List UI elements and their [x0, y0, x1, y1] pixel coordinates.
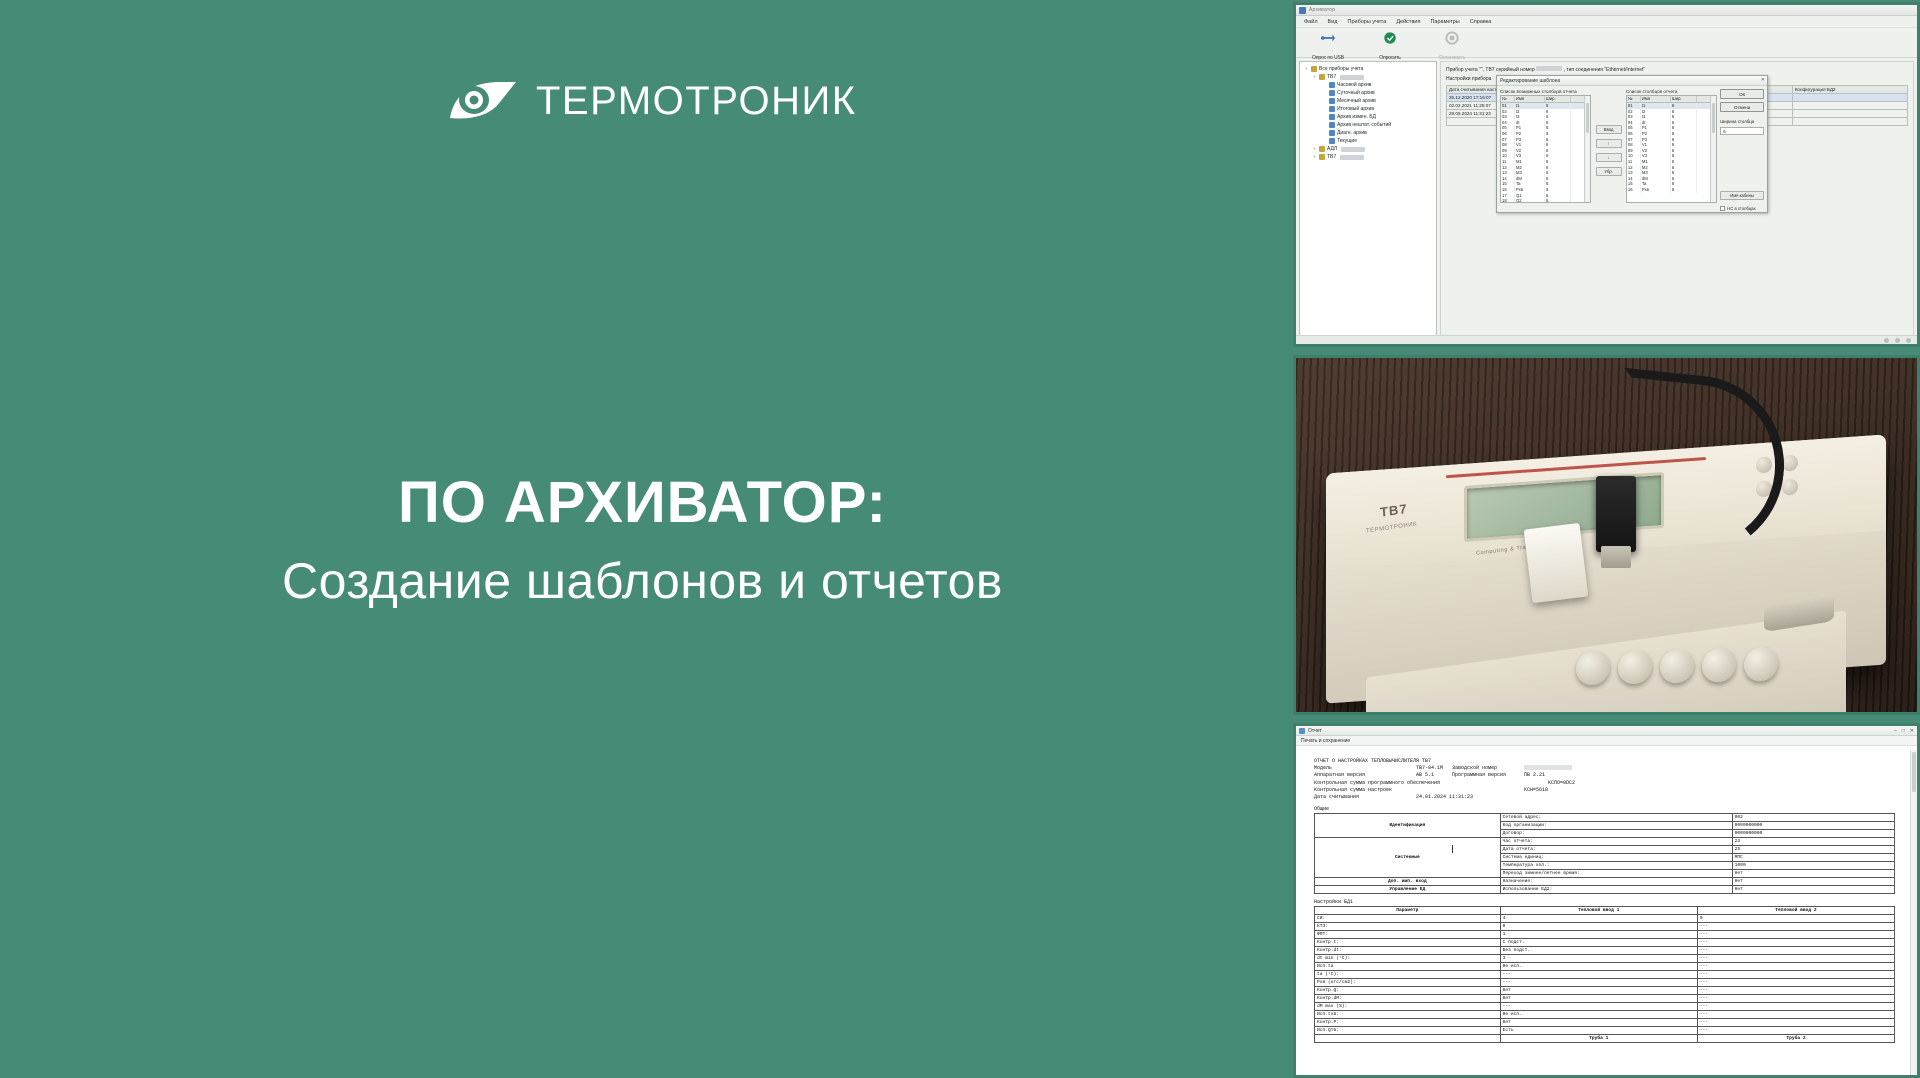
list-item[interactable]: 16Pхв6 — [1627, 187, 1716, 193]
ns-columns-checkbox[interactable] — [1720, 206, 1725, 211]
redacted-value: 0000000000 — [1735, 823, 1763, 828]
toolbar-usb-poll-button[interactable]: Опрос по USB — [1304, 31, 1352, 64]
toolbar-stop-button: Остановить — [1428, 31, 1476, 64]
table-row: Контр.dt:Без подст.--- — [1315, 947, 1895, 955]
table-row: КТЗ:0--- — [1315, 923, 1895, 931]
tree-node-label: ТВ7 — [1327, 153, 1336, 161]
device-header-line: Прибор учета "", ТВ7 серийный номер , ти… — [1446, 66, 1908, 73]
tree-node[interactable]: +ТВ7 — [1302, 73, 1434, 81]
table-cell: 0 — [1500, 923, 1697, 931]
table-cell: --- — [1500, 979, 1697, 987]
text-cursor — [1452, 845, 1453, 853]
table-row: Контр.dM:Нет--- — [1315, 995, 1895, 1003]
report-icon — [1299, 728, 1305, 734]
scroll-thumb[interactable] — [1712, 103, 1715, 133]
scroll-thumb[interactable] — [1912, 752, 1916, 792]
report-header-line: Модель ТВ7-04.1М Заводской номер — [1314, 765, 1907, 772]
tree-node[interactable]: Итоговый архив — [1302, 105, 1434, 113]
settings-param: Назначение: — [1500, 878, 1732, 886]
slide-title-block: ПО АРХИВАТОР: Создание шаблонов и отчето… — [0, 470, 1285, 611]
table-cell: --- — [1697, 971, 1894, 979]
scroll-thumb[interactable] — [1586, 103, 1589, 133]
table-cell — [1792, 94, 1907, 102]
settings-param: Температура хол.: — [1500, 862, 1732, 870]
report-columns-block: Список столбцов отчета № Имя Шир. 01t160… — [1626, 89, 1717, 211]
tree-node[interactable]: +ТВ7 — [1302, 153, 1434, 161]
table-row: ФПТ:1--- — [1315, 931, 1895, 939]
table-cell: ta (°C): — [1315, 971, 1501, 979]
table-cell: --- — [1697, 1011, 1894, 1019]
table-row: dM max (%):------ — [1315, 1003, 1895, 1011]
move-down-button[interactable]: ↓ — [1596, 153, 1622, 162]
brand-name: ТЕРМОТРОНИК — [536, 81, 857, 121]
tree-node[interactable]: Диагн. архив — [1302, 129, 1434, 137]
table-row: Контр.Q:Нет--- — [1315, 987, 1895, 995]
pipe-columns-row: Труба 1Труба 2Труба 3Труба 1Труба 2Труба… — [1315, 1035, 1895, 1043]
settings-value: 23 — [1732, 838, 1894, 846]
app-toolbar: Опрос по USB Опросить Остановить — [1296, 28, 1917, 58]
tree-node[interactable]: +Все приборы учета — [1302, 65, 1434, 73]
available-grid-head: № Имя Шир. — [1501, 96, 1590, 103]
device-tree[interactable]: +Все приборы учета+ТВ7Часовой архивСуточ… — [1299, 61, 1437, 344]
list-cell: 16 — [1627, 187, 1641, 193]
dialog-actions: ОК Отмена Ширина столбца 6 Имя кабины НС… — [1720, 89, 1764, 211]
tree-node[interactable]: Часовой архив — [1302, 81, 1434, 89]
ns-columns-label: НС в столбцах — [1727, 206, 1755, 211]
table-row: Контр.P:Нет--- — [1315, 1019, 1895, 1027]
table-cell: --- — [1697, 963, 1894, 971]
archive-icon — [1329, 106, 1335, 112]
table-cell: Нет — [1500, 1019, 1697, 1027]
transfer-buttons: Ввод ↑ ↓ Убр. — [1594, 89, 1623, 211]
minimize-button[interactable]: – — [1894, 728, 1897, 734]
list-item[interactable]: 18Q26 — [1501, 198, 1590, 203]
redacted-serial — [1340, 155, 1364, 160]
page-subtitle: Создание шаблонов и отчетов — [0, 551, 1285, 611]
tree-node-label: Архив нештат. событий — [1337, 121, 1391, 129]
paper-card — [1524, 523, 1589, 603]
report-section-bd1: Настройки БД1 — [1314, 899, 1907, 905]
archive-icon — [1329, 90, 1335, 96]
table-cell: Есть — [1500, 1027, 1697, 1035]
app-icon — [1299, 7, 1306, 14]
device-icon — [1319, 154, 1325, 160]
redacted-serial — [1340, 75, 1364, 80]
settings-value: 25 — [1732, 846, 1894, 854]
general-settings-table: ИдентификацияСетевой адрес:002Код органи… — [1314, 813, 1895, 894]
tree-node[interactable]: Текущие — [1302, 137, 1434, 145]
brand-logo: ТЕРМОТРОНИК — [448, 78, 857, 124]
table-cell: Контр.Q: — [1315, 987, 1501, 995]
table-cell: --- — [1697, 955, 1894, 963]
table-row: Контр.t:С подст.--- — [1315, 939, 1895, 947]
table-cell: Контр.t: — [1315, 939, 1501, 947]
remove-column-button[interactable]: Убр. — [1596, 167, 1622, 176]
list-cell: Q2 — [1515, 198, 1545, 203]
report-window-title: Отчет — [1308, 728, 1322, 734]
col-header-num: № — [1501, 96, 1515, 102]
tree-node[interactable]: Архив нештат. событий — [1302, 121, 1434, 129]
rcol-header-name: Имя — [1641, 96, 1671, 102]
menu-item-settings[interactable]: Параметры — [1430, 19, 1459, 25]
toolbar-poll-button[interactable]: Опросить — [1366, 31, 1414, 64]
list-cell: 6 — [1671, 187, 1697, 193]
table-cell: Исп.tхв: — [1315, 1011, 1501, 1019]
table-cell: 1 — [1500, 931, 1697, 939]
available-grid-scrollbar[interactable] — [1584, 96, 1590, 202]
redacted-value: 0000000000 — [1735, 831, 1763, 836]
settings-value: Нет — [1732, 870, 1894, 878]
refresh-icon — [1383, 31, 1397, 45]
bd1-col-header: Тепловой ввод 1 — [1500, 907, 1697, 915]
table-row: Исп.tхв:Не исп.--- — [1315, 1011, 1895, 1019]
tree-node-label: ТВ7 — [1327, 73, 1336, 81]
table-cell: 3 — [1500, 955, 1697, 963]
settings-value: 0000000000 — [1732, 822, 1894, 830]
available-columns-block: Список возможных столбцов отчета № Имя Ш… — [1500, 89, 1591, 211]
app-window-title: Архиватор — [1309, 7, 1335, 13]
tree-node-label: Суточный архив — [1337, 89, 1375, 97]
app-menubar[interactable]: Файл Вид Приборы учета Действия Параметр… — [1296, 16, 1917, 28]
close-button[interactable]: ✕ — [1910, 728, 1914, 734]
menu-item-print-save[interactable]: Печать и сохранение — [1301, 738, 1350, 744]
tree-node-label: Все приборы учета — [1319, 65, 1363, 73]
report-window: Отчет – □ ✕ Печать и сохранение ОТЧЕТ О … — [1293, 723, 1920, 1078]
settings-value: 1000 — [1732, 862, 1894, 870]
menu-item-view[interactable]: Вид — [1328, 19, 1338, 25]
tree-node[interactable]: Архив измен. БД — [1302, 113, 1434, 121]
column-width-label: Ширина столбца — [1720, 119, 1764, 124]
device-icon — [1319, 146, 1325, 152]
archive-icon — [1329, 122, 1335, 128]
report-header-line: Аппаратная версия АВ 5.1 Программная вер… — [1314, 772, 1907, 779]
bd1-col-header: Параметр — [1315, 907, 1501, 915]
tree-node[interactable]: Месячный архив — [1302, 97, 1434, 105]
report-columns-grid[interactable]: № Имя Шир. 01t1602t2603t3604dt605P1606P2… — [1626, 95, 1717, 203]
table-cell: КТЗ: — [1315, 923, 1501, 931]
report-menubar[interactable]: Печать и сохранение — [1296, 736, 1917, 746]
settings-param: Дата отчета: — [1500, 846, 1732, 854]
tree-node[interactable]: Суточный архив — [1302, 89, 1434, 97]
list-cell: 6 — [1545, 198, 1571, 203]
menu-item-help[interactable]: Справка — [1470, 19, 1492, 25]
settings-value: Нет — [1732, 886, 1894, 894]
device-icon — [1319, 74, 1325, 80]
table-row: Исп.taНе исп.--- — [1315, 963, 1895, 971]
table-row: Рхв (кгс/см2):------ — [1315, 979, 1895, 987]
usb-adapter-tip — [1601, 546, 1631, 568]
settings-col-header: Конфигурация БД2 — [1792, 86, 1907, 94]
table-cell: dt min (°C): — [1315, 955, 1501, 963]
table-cell: dM max (%): — [1315, 1003, 1501, 1011]
folder-icon — [1311, 66, 1317, 72]
settings-param: Договор: — [1500, 830, 1732, 838]
table-row: Доп. имп. входНазначение:Нет — [1315, 878, 1895, 886]
status-indicator-2 — [1895, 338, 1900, 343]
table-cell: --- — [1697, 995, 1894, 1003]
archive-icon — [1329, 114, 1335, 120]
device-header-text: Прибор учета "", ТВ7 серийный номер — [1446, 67, 1535, 73]
table-cell: --- — [1697, 931, 1894, 939]
dialog-titlebar: Редактирование шаблона ✕ — [1497, 76, 1767, 86]
dialog-body: Список возможных столбцов отчета № Имя Ш… — [1497, 86, 1767, 214]
list-cell: Pхв — [1641, 187, 1671, 193]
rcol-header-num: № — [1627, 96, 1641, 102]
settings-group-label: Доп. имп. вход — [1315, 878, 1501, 886]
table-cell — [1792, 110, 1907, 118]
col-header-width: Шир. — [1545, 96, 1571, 102]
archivator-window: Архиватор Файл Вид Приборы учета Действи… — [1293, 2, 1920, 347]
report-header-line: Контрольная сумма программного обеспечен… — [1314, 780, 1907, 787]
available-columns-caption: Список возможных столбцов отчета — [1500, 89, 1591, 94]
dialog-title: Редактирование шаблона — [1500, 78, 1560, 84]
table-cell: С подст. — [1500, 939, 1697, 947]
report-scrollbar[interactable] — [1910, 750, 1917, 1075]
table-row: Управление ЕДИспользование ЕД2:Нет — [1315, 886, 1895, 894]
expander-icon[interactable]: + — [1312, 153, 1317, 161]
table-cell: Не исп. — [1500, 1011, 1697, 1019]
table-cell: --- — [1697, 1003, 1894, 1011]
redacted-value — [1524, 765, 1572, 770]
report-header-line: Контрольная сумма настроек КСН=5618 — [1314, 787, 1907, 794]
report-title-group: Отчет — [1299, 728, 1322, 734]
archive-icon — [1329, 138, 1335, 144]
tree-node-label: Итоговый архив — [1337, 105, 1374, 113]
table-cell: --- — [1697, 1027, 1894, 1035]
table-cell: Контр.dt: — [1315, 947, 1501, 955]
list-cell: 18 — [1501, 198, 1515, 203]
settings-value: 0000000000 — [1732, 830, 1894, 838]
app-titlebar: Архиватор — [1296, 5, 1917, 16]
table-cell: --- — [1500, 971, 1697, 979]
expander-icon[interactable]: + — [1312, 145, 1317, 153]
expander-icon[interactable]: + — [1304, 65, 1309, 73]
tree-node-label: Текущие — [1337, 137, 1357, 145]
table-cell: --- — [1697, 947, 1894, 955]
table-row: СистемныеЧас отчета:23 — [1315, 838, 1895, 846]
cancel-button[interactable]: Отмена — [1720, 102, 1764, 112]
bd1-table-body: СИ:40КТЗ:0---ФПТ:1---Контр.t:С подст.---… — [1315, 915, 1895, 1035]
report-header-line: Дата считывания 24.01.2024 11:31:23 — [1314, 794, 1907, 801]
rcol-header-width: Шир. — [1671, 96, 1697, 102]
line-numbers-button[interactable]: Имя кабины — [1720, 191, 1764, 200]
bd1-table-head: ПараметрТепловой ввод 1Тепловой ввод 2 — [1315, 907, 1895, 915]
settings-group-label: Системные — [1315, 838, 1501, 878]
settings-param: Сетевой адрес: — [1500, 814, 1732, 822]
table-cell: --- — [1697, 1019, 1894, 1027]
app-statusbar — [1296, 335, 1917, 344]
table-cell: --- — [1697, 979, 1894, 987]
settings-param: Час отчета: — [1500, 838, 1732, 846]
settings-value: МПС — [1732, 854, 1894, 862]
table-cell: Контр.dM: — [1315, 995, 1501, 1003]
table-cell: Нет — [1500, 987, 1697, 995]
bd1-col-header: Тепловой ввод 2 — [1697, 907, 1894, 915]
table-cell: Рхв (кгс/см2): — [1315, 979, 1501, 987]
pipe-spacer — [1315, 1035, 1501, 1043]
tree-node-label: Диагн. архив — [1337, 129, 1367, 137]
bd1-settings-table: ПараметрТепловой ввод 1Тепловой ввод 2 С… — [1314, 906, 1895, 1043]
report-section-general: Общие — [1314, 806, 1907, 812]
archive-icon — [1329, 130, 1335, 136]
add-column-button[interactable]: Ввод — [1596, 125, 1622, 134]
col-header-name: Имя — [1515, 96, 1545, 102]
table-cell: 0 — [1697, 915, 1894, 923]
table-cell: Без подст. — [1500, 947, 1697, 955]
table-row: Исп.Qтв:Есть--- — [1315, 1027, 1895, 1035]
tree-node-label: Архив измен. БД — [1337, 113, 1376, 121]
settings-value: Нет — [1732, 878, 1894, 886]
archive-icon — [1329, 98, 1335, 104]
page-title: ПО АРХИВАТОР: — [0, 470, 1285, 537]
available-columns-grid[interactable]: № Имя Шир. 01t1602t2603t3604dt605P1606P2… — [1500, 95, 1591, 203]
settings-param: Использование ЕД2: — [1500, 886, 1732, 894]
report-titlebar: Отчет – □ ✕ — [1296, 726, 1917, 736]
photo-canvas: ТВ7 ТЕРМОТРОНИК Computing & Tracking — [1296, 358, 1917, 712]
column-width-input[interactable]: 6 — [1720, 127, 1764, 135]
usb-adapter — [1596, 476, 1636, 552]
table-cell: Не исп. — [1500, 963, 1697, 971]
table-cell: СИ: — [1315, 915, 1501, 923]
menu-item-actions[interactable]: Действия — [1396, 19, 1420, 25]
expander-icon[interactable]: + — [1312, 73, 1317, 81]
tree-node-label: АДЛ — [1327, 145, 1337, 153]
status-indicator-3 — [1906, 338, 1911, 343]
table-cell: --- — [1697, 939, 1894, 947]
settings-group-label: Управление ЕД — [1315, 886, 1501, 894]
table-cell: Исп.ta — [1315, 963, 1501, 971]
report-header-value: КСПО=0DC2 — [1548, 780, 1575, 786]
ns-columns-checkbox-row[interactable]: НС в столбцах — [1720, 206, 1764, 211]
table-cell: 4 — [1500, 915, 1697, 923]
report-grid-scrollbar[interactable] — [1710, 96, 1716, 202]
report-header-value: КСН=5618 — [1524, 787, 1548, 793]
settings-param: Переход зимнее/летнее время: — [1500, 870, 1732, 878]
usb-icon — [1321, 31, 1335, 45]
menu-item-devices[interactable]: Приборы учета — [1347, 19, 1386, 25]
report-columns-caption: Список столбцов отчета — [1626, 89, 1717, 94]
table-row: ta (°C):------ — [1315, 971, 1895, 979]
settings-param: Система единиц: — [1500, 854, 1732, 862]
settings-param: Код организации: — [1500, 822, 1732, 830]
pipe-header: Труба 2 — [1697, 1035, 1894, 1043]
pipe-header: Труба 1 — [1500, 1035, 1697, 1043]
archive-icon — [1329, 82, 1335, 88]
report-window-controls[interactable]: – □ ✕ — [1894, 728, 1914, 734]
table-cell — [1792, 102, 1907, 110]
device-header-tail: , тип соединения "Ethernet/Internet" — [1564, 67, 1646, 73]
menu-item-file[interactable]: Файл — [1304, 19, 1318, 25]
general-settings-body: ИдентификацияСетевой адрес:002Код органи… — [1315, 814, 1895, 894]
report-header-value: ПВ 2.21 — [1524, 772, 1545, 778]
redacted-serial — [1341, 147, 1365, 152]
table-row: dt min (°C):3--- — [1315, 955, 1895, 963]
status-indicator-1 — [1884, 338, 1889, 343]
report-header-lines: Модель ТВ7-04.1М Заводской номер Аппарат… — [1314, 765, 1907, 801]
table-cell — [1792, 118, 1907, 126]
tree-node[interactable]: +АДЛ — [1302, 145, 1434, 153]
table-row: ИдентификацияСетевой адрес:002 — [1315, 814, 1895, 822]
device-serial-redacted — [1536, 66, 1562, 71]
brand-pane: ТЕРМОТРОНИК ПО АРХИВАТОР: Создание шабло… — [0, 0, 1285, 1078]
available-grid-rows[interactable]: 01t1602t2603t3604dt605P1606P2607P3608V16… — [1501, 103, 1590, 203]
move-up-button[interactable]: ↑ — [1596, 139, 1622, 148]
settings-group-label: Идентификация — [1315, 814, 1501, 838]
tree-node-label: Часовой архив — [1337, 81, 1371, 89]
table-cell: Контр.P: — [1315, 1019, 1501, 1027]
report-grid-head: № Имя Шир. — [1627, 96, 1716, 103]
report-grid-rows[interactable]: 01t1602t2603t3604dt605P1606P2607P3608V16… — [1627, 103, 1716, 193]
slide-root: ТЕРМОТРОНИК ПО АРХИВАТОР: Создание шабло… — [0, 0, 1920, 1078]
ok-button[interactable]: ОК — [1720, 89, 1764, 99]
template-editor-dialog[interactable]: Редактирование шаблона ✕ Список возможны… — [1496, 75, 1768, 213]
table-row: СИ:40 — [1315, 915, 1895, 923]
tree-node-label: Месячный архив — [1337, 97, 1376, 105]
table-cell: ФПТ: — [1315, 931, 1501, 939]
termotronic-eye-logo-icon — [448, 78, 518, 124]
table-cell: Нет — [1500, 995, 1697, 1003]
table-cell: --- — [1500, 1003, 1697, 1011]
table-cell: Исп.Qтв: — [1315, 1027, 1501, 1035]
device-photo: ТВ7 ТЕРМОТРОНИК Computing & Tracking — [1293, 355, 1920, 715]
screenshot-column: Архиватор Файл Вид Приборы учета Действи… — [1285, 0, 1920, 1078]
stop-icon — [1445, 31, 1459, 45]
settings-value: 002 — [1732, 814, 1894, 822]
close-icon[interactable]: ✕ — [1761, 78, 1765, 83]
maximize-button[interactable]: □ — [1902, 728, 1905, 734]
tv7-device-body: ТВ7 ТЕРМОТРОНИК Computing & Tracking — [1326, 434, 1886, 703]
table-cell: --- — [1697, 923, 1894, 931]
table-cell: --- — [1697, 987, 1894, 995]
report-document: ОТЧЕТ О НАСТРОЙКАХ ТЕПЛОВЫЧИСЛИТЕЛЯ ТВ7 … — [1302, 750, 1917, 1075]
